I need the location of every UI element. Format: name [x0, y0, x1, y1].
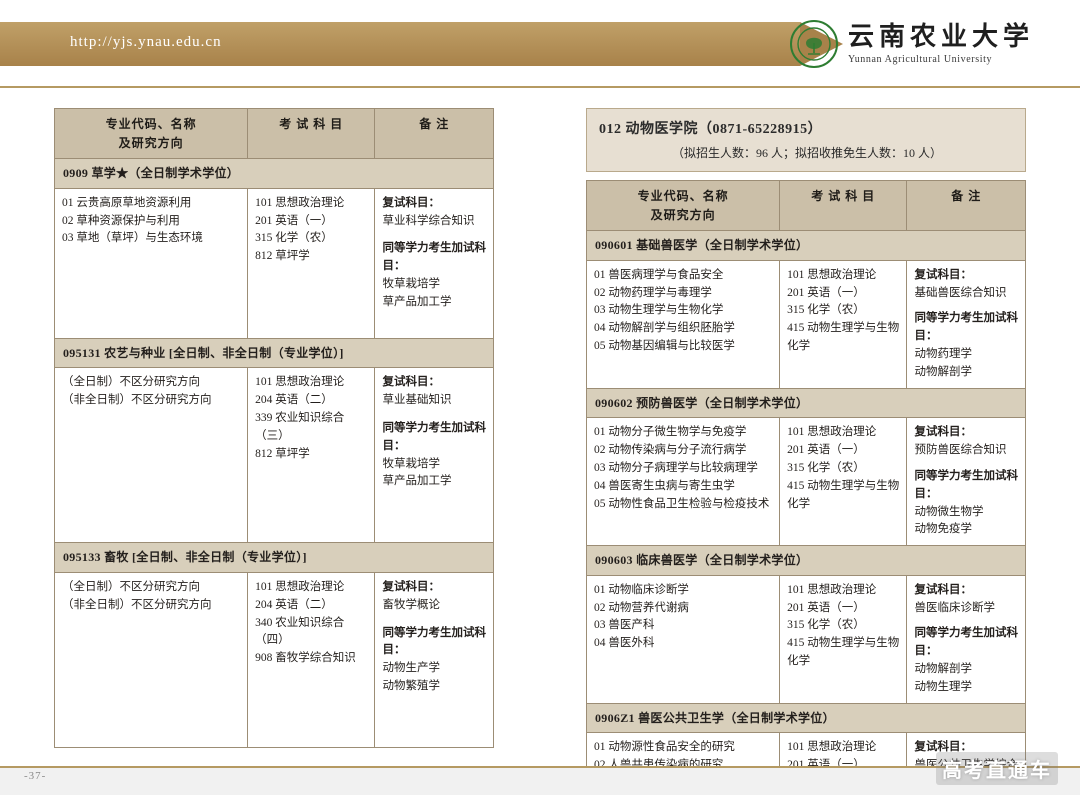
section-title: 095133 畜牧 [全日制、非全日制（专业学位）]: [55, 543, 494, 573]
notes-retest-label: 复试科目：: [382, 579, 486, 597]
notes-equivalent-label: 同等学力考生加试科目：: [914, 310, 1018, 346]
cell-notes: 复试科目： 草业科学综合知识 同等学力考生加试科目： 牧草栽培学 草产品加工学: [375, 188, 494, 338]
cell-subjects: 101 思想政治理论 204 英语（二） 340 农业知识综合（四） 908 畜…: [248, 572, 375, 747]
page-header: http://yjs.ynau.edu.cn 云南农业大学 Yunnan Agr…: [0, 0, 1080, 88]
notes-equivalent-body: 动物微生物学 动物免疫学: [914, 504, 1018, 540]
page-number: -37-: [24, 770, 46, 782]
notes-retest-label: 复试科目：: [914, 424, 1018, 442]
tree-emblem-icon: [790, 20, 838, 68]
header-remarks: 备 注: [375, 109, 494, 159]
notes-equivalent-body: 牧草栽培学 草产品加工学: [382, 456, 486, 492]
cell-notes: 复试科目： 兽医临床诊断学 同等学力考生加试科目： 动物解剖学 动物生理学: [907, 575, 1026, 703]
notes-equivalent-body: 牧草栽培学 草产品加工学: [382, 276, 486, 312]
section-title: 0909 草学★（全日制学术学位）: [55, 159, 494, 189]
notes-equivalent-body: 动物生产学 动物繁殖学: [382, 660, 486, 696]
cell-notes: 复试科目： 畜牧学概论 同等学力考生加试科目： 动物生产学 动物繁殖学: [375, 572, 494, 747]
cell-directions: 01 云贵高原草地资源利用 02 草种资源保护与利用 03 草地（草坪）与生态环…: [55, 188, 248, 338]
notes-retest-body: 草业基础知识: [382, 392, 486, 410]
notes-equivalent-body: 动物解剖学 动物生理学: [914, 661, 1018, 697]
notes-retest-body: 畜牧学概论: [382, 597, 486, 615]
cell-directions: 01 兽医病理学与食品安全 02 动物药理学与毒理学 03 动物生理学与生物化学…: [587, 260, 780, 388]
header-major-code-line1: 专业代码、名称: [62, 115, 240, 134]
notes-equivalent-label: 同等学力考生加试科目：: [382, 240, 486, 276]
header-exam-subjects: 考 试 科 目: [780, 181, 907, 231]
institute-subtitle: （拟招生人数：96 人；拟招收推免生人数：10 人）: [599, 144, 1015, 161]
table-section-header: 0909 草学★（全日制学术学位）: [55, 159, 494, 189]
header-major-code-line1: 专业代码、名称: [594, 187, 772, 206]
table-row: 01 云贵高原草地资源利用 02 草种资源保护与利用 03 草地（草坪）与生态环…: [55, 188, 494, 338]
header-exam-subjects: 考 试 科 目: [248, 109, 375, 159]
cell-directions: （全日制）不区分研究方向 （非全日制）不区分研究方向: [55, 572, 248, 747]
table-row: （全日制）不区分研究方向 （非全日制）不区分研究方向 101 思想政治理论 20…: [55, 368, 494, 543]
cell-subjects: 101 思想政治理论 201 英语（一） 315 化学（农） 415 动物生理学…: [780, 575, 907, 703]
notes-retest-label: 复试科目：: [382, 195, 486, 213]
table-section-header: 095133 畜牧 [全日制、非全日制（专业学位）]: [55, 543, 494, 573]
notes-equivalent-label: 同等学力考生加试科目：: [382, 625, 486, 661]
left-program-table: 专业代码、名称 及研究方向 考 试 科 目 备 注 0909 草学★（全日制学术…: [54, 108, 494, 748]
table-section-header: 090601 基础兽医学（全日制学术学位）: [587, 231, 1026, 261]
institute-header: 012 动物医学院（0871-65228915） （拟招生人数：96 人；拟招收…: [586, 108, 1026, 172]
notes-retest-label: 复试科目：: [382, 374, 486, 392]
cell-subjects: 101 思想政治理论 201 英语（一） 315 化学（农） 415 动物生理学…: [780, 418, 907, 546]
right-column: 012 动物医学院（0871-65228915） （拟招生人数：96 人；拟招收…: [586, 108, 1026, 795]
cell-subjects: 101 思想政治理论 201 英语（一） 315 化学（农） 812 草坪学: [248, 188, 375, 338]
header-major-code: 专业代码、名称 及研究方向: [55, 109, 248, 159]
right-program-table: 专业代码、名称 及研究方向 考 试 科 目 备 注 090601 基础兽医学（全…: [586, 180, 1026, 795]
table-section-header: 095131 农艺与种业 [全日制、非全日制（专业学位）]: [55, 338, 494, 368]
site-url[interactable]: http://yjs.ynau.edu.cn: [70, 34, 222, 51]
cell-notes: 复试科目： 预防兽医综合知识 同等学力考生加试科目： 动物微生物学 动物免疫学: [907, 418, 1026, 546]
cell-directions: 01 动物临床诊断学 02 动物营养代谢病 03 兽医产科 04 兽医外科: [587, 575, 780, 703]
table-row: 01 动物临床诊断学 02 动物营养代谢病 03 兽医产科 04 兽医外科 10…: [587, 575, 1026, 703]
section-title: 090601 基础兽医学（全日制学术学位）: [587, 231, 1026, 261]
header-major-code-line2: 及研究方向: [62, 134, 240, 153]
footer-strip: [0, 768, 1080, 795]
header-remarks: 备 注: [907, 181, 1026, 231]
cell-subjects: 101 思想政治理论 204 英语（二） 339 农业知识综合（三） 812 草…: [248, 368, 375, 543]
section-title: 095131 农艺与种业 [全日制、非全日制（专业学位）]: [55, 338, 494, 368]
university-logo: 云南农业大学 Yunnan Agricultural University: [790, 20, 1034, 68]
table-header-row: 专业代码、名称 及研究方向 考 试 科 目 备 注: [55, 109, 494, 159]
table-section-header: 090603 临床兽医学（全日制学术学位）: [587, 546, 1026, 576]
table-section-header: 0906Z1 兽医公共卫生学（全日制学术学位）: [587, 703, 1026, 733]
table-row: （全日制）不区分研究方向 （非全日制）不区分研究方向 101 思想政治理论 20…: [55, 572, 494, 747]
cell-subjects: 101 思想政治理论 201 英语（一） 315 化学（农） 415 动物生理学…: [780, 260, 907, 388]
notes-equivalent-label: 同等学力考生加试科目：: [382, 420, 486, 456]
notes-retest-body: 草业科学综合知识: [382, 213, 486, 231]
table-header-row: 专业代码、名称 及研究方向 考 试 科 目 备 注: [587, 181, 1026, 231]
cell-directions: 01 动物分子微生物学与免疫学 02 动物传染病与分子流行病学 03 动物分子病…: [587, 418, 780, 546]
notes-equivalent-label: 同等学力考生加试科目：: [914, 468, 1018, 504]
cell-notes: 复试科目： 基础兽医综合知识 同等学力考生加试科目： 动物药理学 动物解剖学: [907, 260, 1026, 388]
notes-retest-body: 预防兽医综合知识: [914, 442, 1018, 460]
university-name-cn: 云南农业大学: [848, 23, 1034, 52]
university-name-en: Yunnan Agricultural University: [848, 54, 1034, 65]
cell-directions: （全日制）不区分研究方向 （非全日制）不区分研究方向: [55, 368, 248, 543]
notes-retest-body: 兽医临床诊断学: [914, 600, 1018, 618]
cell-notes: 复试科目： 草业基础知识 同等学力考生加试科目： 牧草栽培学 草产品加工学: [375, 368, 494, 543]
header-major-code-line2: 及研究方向: [594, 206, 772, 225]
header-divider: [0, 86, 1080, 88]
table-section-header: 090602 预防兽医学（全日制学术学位）: [587, 388, 1026, 418]
section-title: 090603 临床兽医学（全日制学术学位）: [587, 546, 1026, 576]
table-row: 01 兽医病理学与食品安全 02 动物药理学与毒理学 03 动物生理学与生物化学…: [587, 260, 1026, 388]
notes-equivalent-body: 动物药理学 动物解剖学: [914, 346, 1018, 382]
notes-equivalent-label: 同等学力考生加试科目：: [914, 625, 1018, 661]
section-title: 0906Z1 兽医公共卫生学（全日制学术学位）: [587, 703, 1026, 733]
header-major-code: 专业代码、名称 及研究方向: [587, 181, 780, 231]
left-column: 专业代码、名称 及研究方向 考 试 科 目 备 注 0909 草学★（全日制学术…: [54, 108, 494, 748]
section-title: 090602 预防兽医学（全日制学术学位）: [587, 388, 1026, 418]
page-root: http://yjs.ynau.edu.cn 云南农业大学 Yunnan Agr…: [0, 0, 1080, 795]
notes-retest-body: 基础兽医综合知识: [914, 285, 1018, 303]
watermark: 高考直通车: [936, 752, 1058, 785]
institute-title: 012 动物医学院（0871-65228915）: [599, 118, 1015, 138]
table-row: 01 动物分子微生物学与免疫学 02 动物传染病与分子流行病学 03 动物分子病…: [587, 418, 1026, 546]
notes-retest-label: 复试科目：: [914, 267, 1018, 285]
notes-retest-label: 复试科目：: [914, 582, 1018, 600]
